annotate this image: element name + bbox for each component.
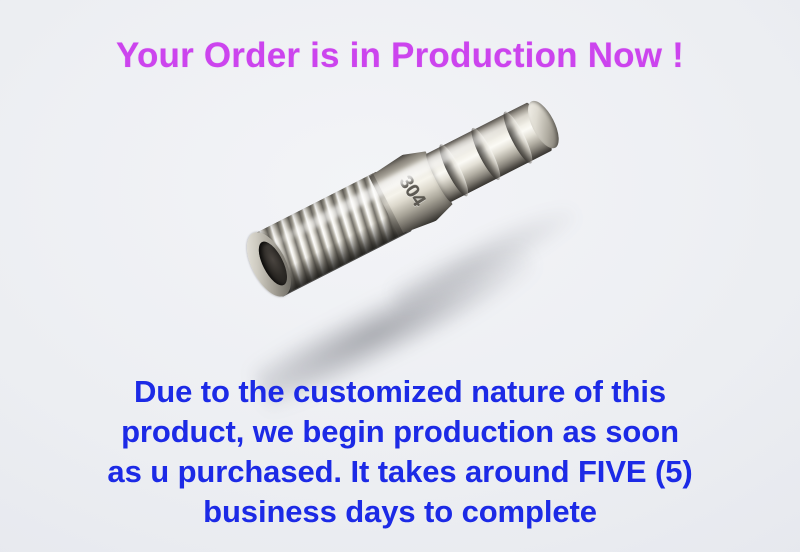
notice-line: Due to the customized nature of this (0, 372, 800, 412)
notice-line: product, we begin production as soon (0, 412, 800, 452)
production-notice: Due to the customized nature of this pro… (0, 372, 800, 532)
notice-line: business days to complete (0, 492, 800, 532)
product-image: 304 (215, 145, 595, 375)
promo-card: Your Order is in Production Now ! 304 Du… (0, 0, 800, 552)
page-title: Your Order is in Production Now ! (0, 36, 800, 76)
notice-line: as u purchased. It takes around FIVE (5) (0, 452, 800, 492)
